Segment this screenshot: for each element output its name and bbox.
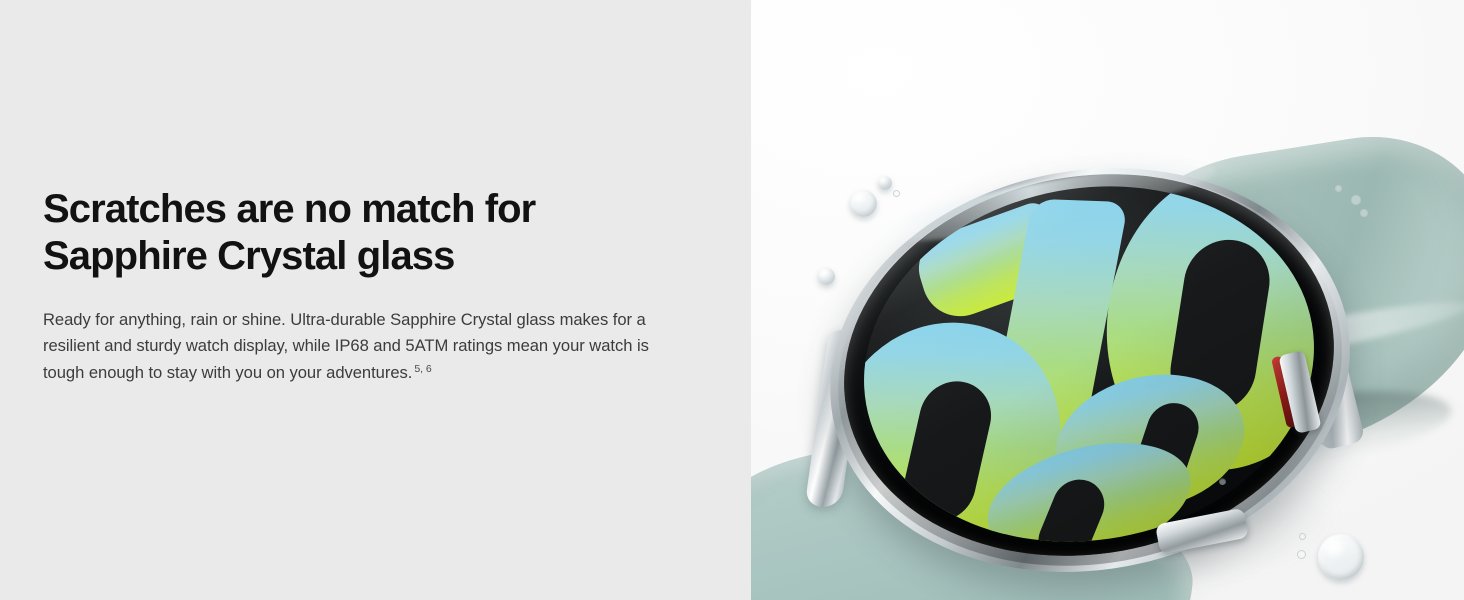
footnote-reference: 5, 6 xyxy=(414,363,431,375)
product-feature-banner: Scratches are no match for Sapphire Crys… xyxy=(0,0,1464,600)
water-droplet xyxy=(1351,195,1361,205)
water-droplet xyxy=(1297,550,1306,559)
text-block: Scratches are no match for Sapphire Crys… xyxy=(43,186,683,387)
page-title: Scratches are no match for Sapphire Crys… xyxy=(43,186,683,280)
body-text: Ready for anything, rain or shine. Ultra… xyxy=(43,310,649,383)
product-image-panel xyxy=(751,0,1464,600)
water-droplet xyxy=(1318,534,1364,580)
water-droplet xyxy=(818,268,835,285)
text-panel: Scratches are no match for Sapphire Crys… xyxy=(0,0,751,600)
microphone-hole xyxy=(1219,478,1226,485)
water-droplet xyxy=(878,176,892,190)
water-droplet xyxy=(1335,185,1342,192)
water-droplet xyxy=(1360,209,1368,217)
water-droplet xyxy=(893,190,900,197)
body-description: Ready for anything, rain or shine. Ultra… xyxy=(43,307,668,388)
water-droplet xyxy=(850,190,877,217)
water-droplet xyxy=(1299,533,1306,540)
